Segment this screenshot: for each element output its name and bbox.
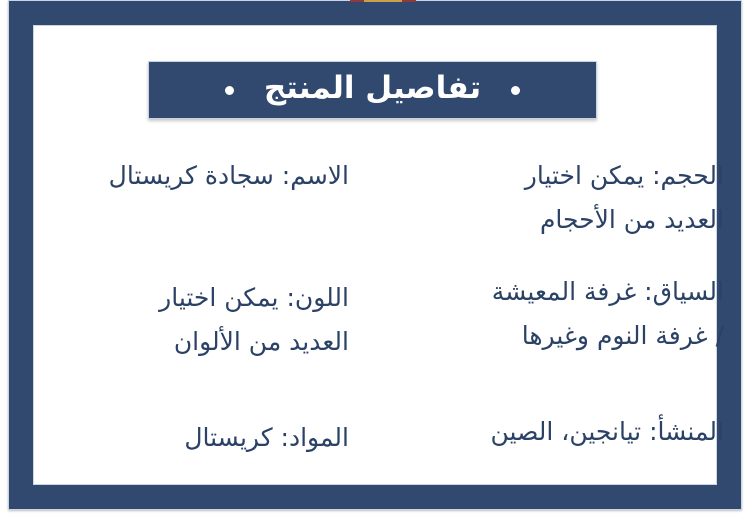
detail-item-name: الاسم: سجادة كريستال bbox=[26, 154, 349, 198]
banner-dot-end-icon bbox=[225, 86, 234, 95]
banner-dot-start-icon bbox=[511, 86, 520, 95]
top-ornament-graphic bbox=[350, 0, 416, 2]
section-title-banner: تفاصيل المنتج bbox=[148, 61, 597, 119]
detail-item-color: اللون: يمكن اختيار العديد من الألوان bbox=[26, 276, 349, 364]
detail-item-context: السياق: غرفة المعيشة / غرفة النوم وغيرها bbox=[401, 270, 724, 358]
slide-content: تفاصيل المنتج الحجم: يمكن اختيار العديد … bbox=[26, 26, 724, 484]
page-title: تفاصيل المنتج bbox=[264, 73, 481, 107]
detail-item-size: الحجم: يمكن اختيار العديد من الأحجام bbox=[401, 154, 724, 242]
detail-item-material: المواد: كريستال bbox=[26, 416, 349, 460]
product-details-slide: تفاصيل المنتج الحجم: يمكن اختيار العديد … bbox=[0, 0, 750, 524]
detail-item-origin: المنشأ: تيانجين، الصين bbox=[401, 410, 724, 454]
product-details-grid: الحجم: يمكن اختيار العديد من الأحجام الس… bbox=[26, 138, 724, 468]
